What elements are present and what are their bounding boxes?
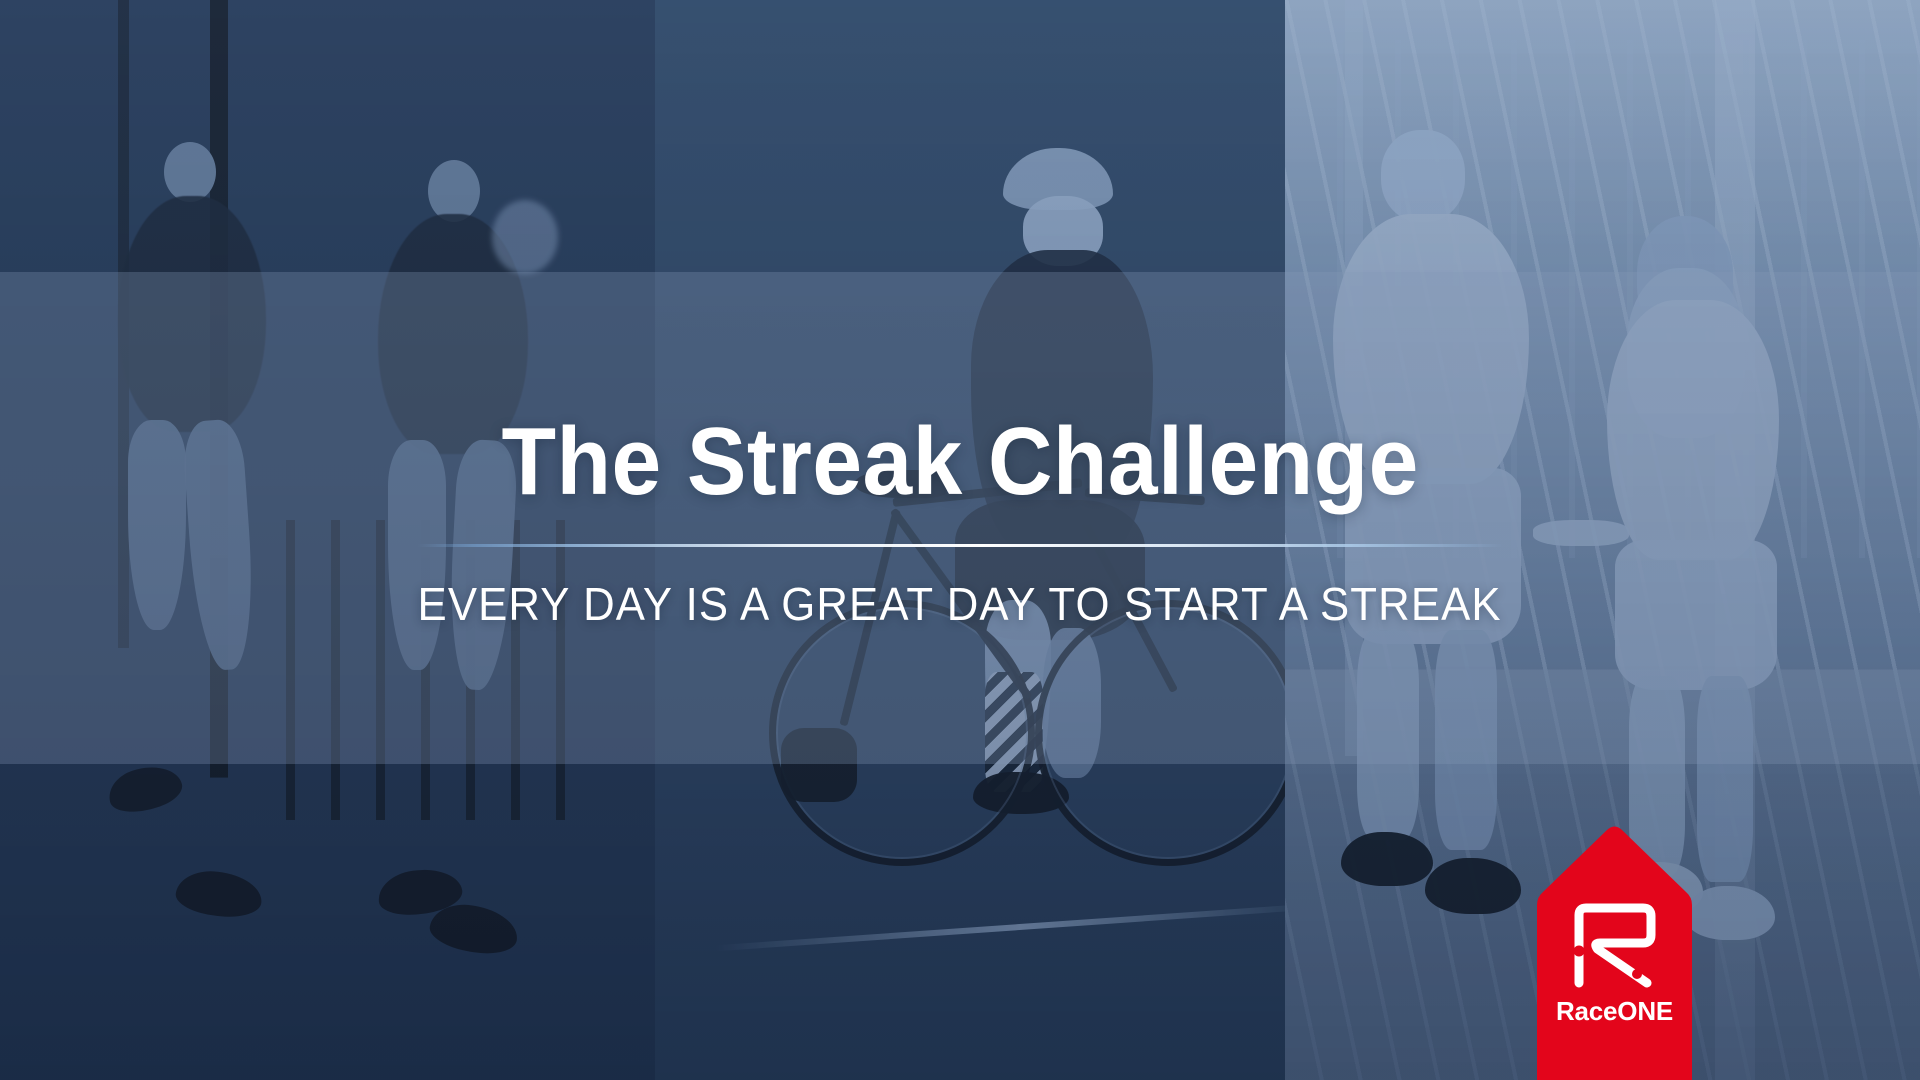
route-end-dot [1632, 969, 1642, 979]
raceone-logo[interactable]: RaceONE [1527, 811, 1702, 1080]
logo-wordmark: RaceONE [1556, 996, 1673, 1026]
page-subtitle: EVERY DAY IS A GREAT DAY TO START A STRE… [418, 577, 1502, 631]
route-start-dot [1574, 946, 1585, 957]
title-divider [418, 544, 1503, 547]
streak-challenge-hero-banner: The Streak Challenge EVERY DAY IS A GREA… [0, 0, 1920, 1080]
page-title: The Streak Challenge [501, 413, 1418, 511]
logo-badge-shape [1537, 827, 1692, 1080]
